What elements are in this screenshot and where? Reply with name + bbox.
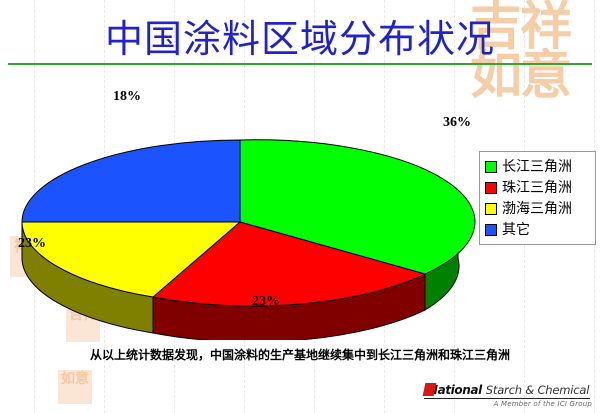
logo-name-bold: National [428,383,482,397]
title-underline-rule [8,63,592,65]
seal-watermark-3: 如意 [58,370,92,404]
logo-name-rest: Starch & Chemical [486,383,589,397]
pie-label-yellow: 23% [18,236,46,252]
chart-legend: 长江三角洲 珠江三角洲 渤海三角洲 其它 [479,151,596,245]
legend-swatch-yellow [485,203,497,215]
legend-label-2: 渤海三角洲 [502,202,572,216]
pie-label-green: 36% [443,115,471,131]
legend-swatch-green [485,161,497,173]
logo-rule [424,398,590,399]
legend-swatch-blue [485,224,497,236]
corporate-logo: National Starch & Chemical A Member of t… [424,381,592,408]
legend-item-3[interactable]: 其它 [485,219,591,240]
pie-label-red: 23% [252,294,280,310]
legend-label-3: 其它 [502,223,530,237]
legend-item-1[interactable]: 珠江三角洲 [485,177,591,198]
slide-canvas: 吉祥 如意 祥和 吉祥 如意 中国涂料区域分布状况 36 [0,0,600,413]
slide-caption: 从以上统计数据发现，中国涂料的生产基地继续集中到长江三角洲和珠江三角洲 [0,346,600,363]
legend-item-2[interactable]: 渤海三角洲 [485,198,591,219]
page-title: 中国涂料区域分布状况 [0,8,600,63]
logo-tagline: A Member of the ICI Group [424,400,592,408]
legend-label-1: 珠江三角洲 [502,181,572,195]
logo-wordmark: National Starch & Chemical [424,381,592,397]
pie-label-blue: 18% [113,89,141,105]
legend-item-0[interactable]: 长江三角洲 [485,156,591,177]
legend-label-0: 长江三角洲 [502,160,572,174]
legend-swatch-red [485,182,497,194]
pie-slice-blue [22,140,240,222]
